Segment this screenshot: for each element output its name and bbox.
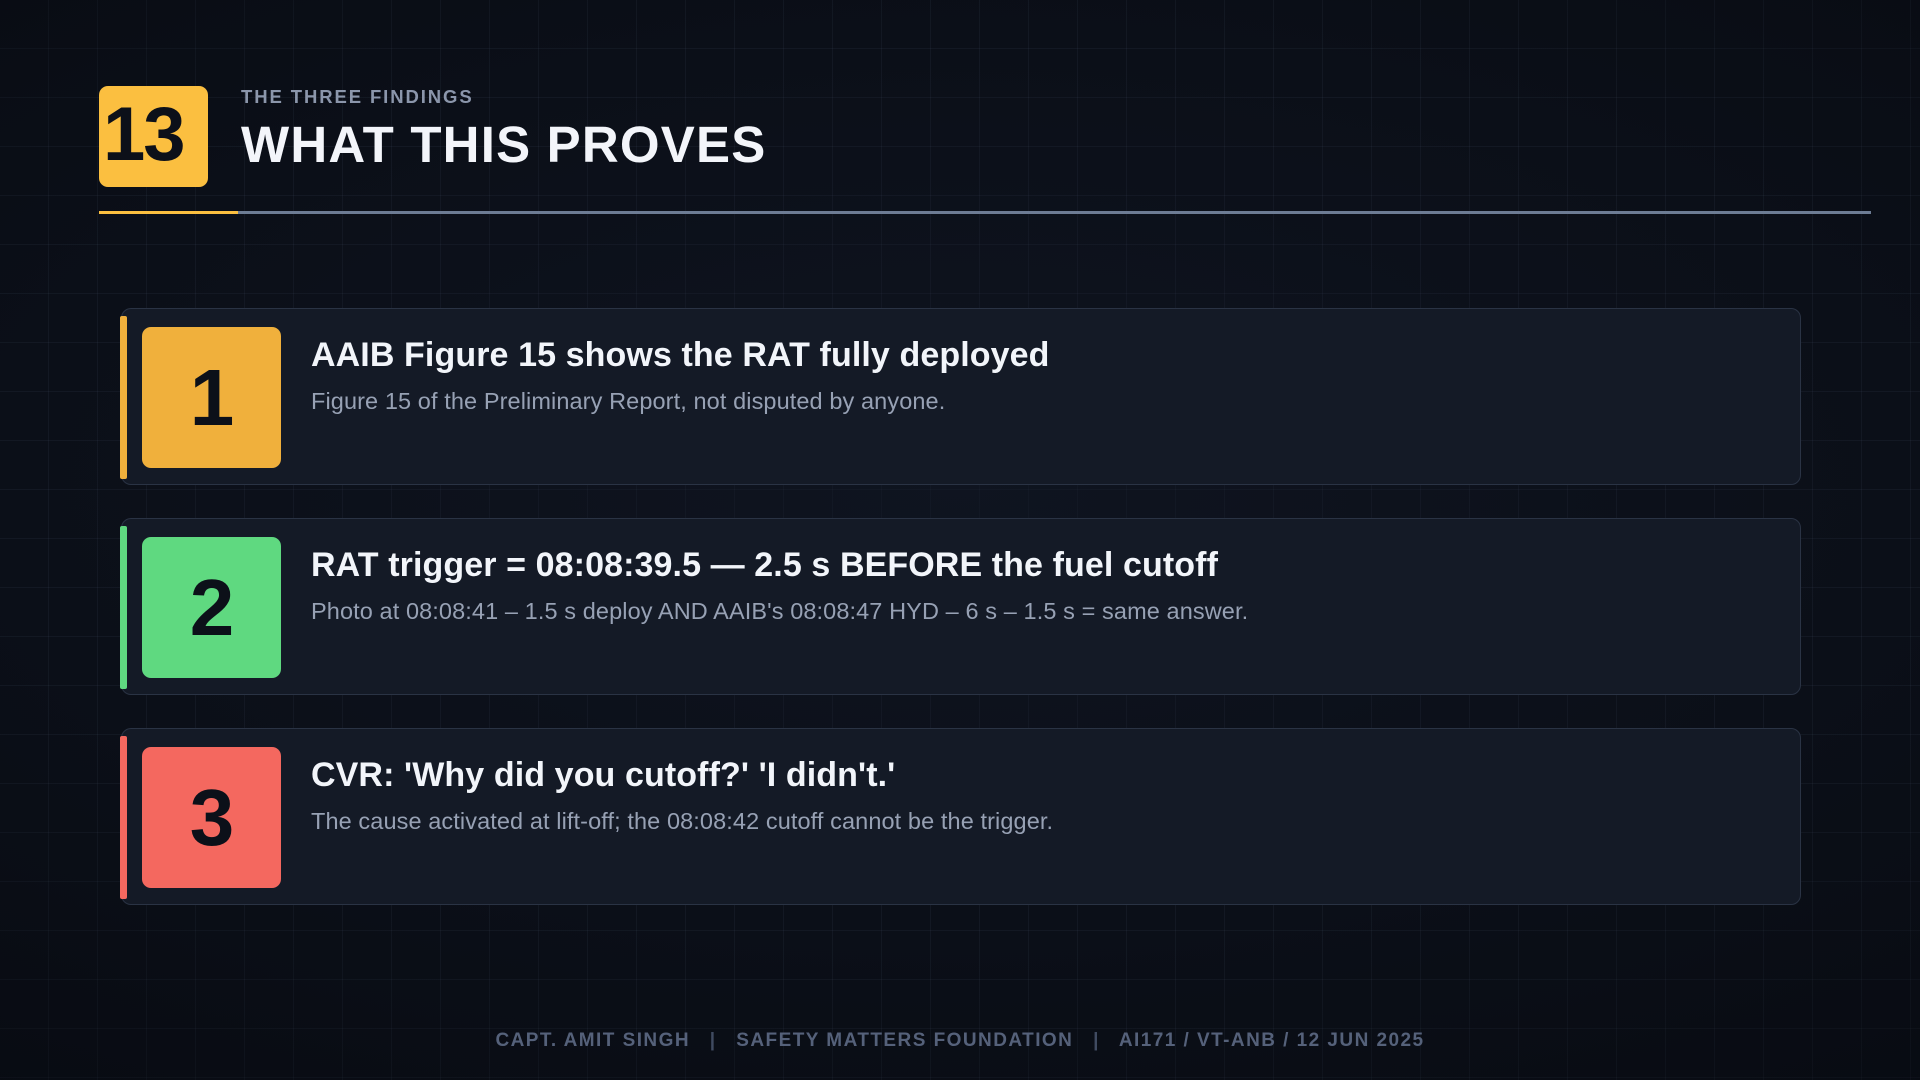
card-number-badge-1: 1 — [142, 327, 281, 468]
slide-header: 13 THE THREE FINDINGS WHAT THIS PROVES — [99, 84, 1879, 224]
footer-organization: SAFETY MATTERS FOUNDATION — [736, 1030, 1073, 1051]
header-text-block: THE THREE FINDINGS WHAT THIS PROVES — [241, 84, 766, 171]
card-subtitle-1: Figure 15 of the Preliminary Report, not… — [311, 386, 1772, 417]
card-title-1: AAIB Figure 15 shows the RAT fully deplo… — [311, 335, 1772, 376]
page-title: WHAT THIS PROVES — [241, 118, 766, 172]
card-number-badge-3: 3 — [142, 747, 281, 888]
footer-reference: AI171 / VT-ANB / 12 JUN 2025 — [1119, 1030, 1425, 1051]
card-number-badge-2: 2 — [142, 537, 281, 678]
card-body-1: AAIB Figure 15 shows the RAT fully deplo… — [311, 335, 1772, 416]
header-eyebrow: THE THREE FINDINGS — [241, 84, 766, 107]
card-body-3: CVR: 'Why did you cutoff?' 'I didn't.' T… — [311, 755, 1772, 836]
footer-author: CAPT. AMIT SINGH — [495, 1030, 690, 1051]
slide-footer: CAPT. AMIT SINGH | SAFETY MATTERS FOUNDA… — [0, 1030, 1920, 1052]
card-subtitle-2: Photo at 08:08:41 – 1.5 s deploy AND AAI… — [311, 596, 1772, 627]
card-title-2: RAT trigger = 08:08:39.5 — 2.5 s BEFORE … — [311, 545, 1772, 586]
card-accent-bar-3 — [120, 736, 127, 899]
card-accent-bar-2 — [120, 526, 127, 689]
finding-card-1: 1 AAIB Figure 15 shows the RAT fully dep… — [121, 308, 1801, 485]
card-body-2: RAT trigger = 08:08:39.5 — 2.5 s BEFORE … — [311, 545, 1772, 626]
footer-separator-1: | — [697, 1030, 730, 1051]
card-accent-bar-1 — [120, 316, 127, 479]
finding-card-2: 2 RAT trigger = 08:08:39.5 — 2.5 s BEFOR… — [121, 518, 1801, 695]
header-divider — [99, 211, 1871, 214]
card-title-3: CVR: 'Why did you cutoff?' 'I didn't.' — [311, 755, 1772, 796]
finding-card-3: 3 CVR: 'Why did you cutoff?' 'I didn't.'… — [121, 728, 1801, 905]
header-divider-accent — [99, 211, 238, 214]
card-subtitle-3: The cause activated at lift-off; the 08:… — [311, 806, 1772, 837]
footer-separator-2: | — [1080, 1030, 1113, 1051]
findings-list: 1 AAIB Figure 15 shows the RAT fully dep… — [121, 308, 1801, 938]
slide-number-label: 13 — [103, 84, 243, 185]
